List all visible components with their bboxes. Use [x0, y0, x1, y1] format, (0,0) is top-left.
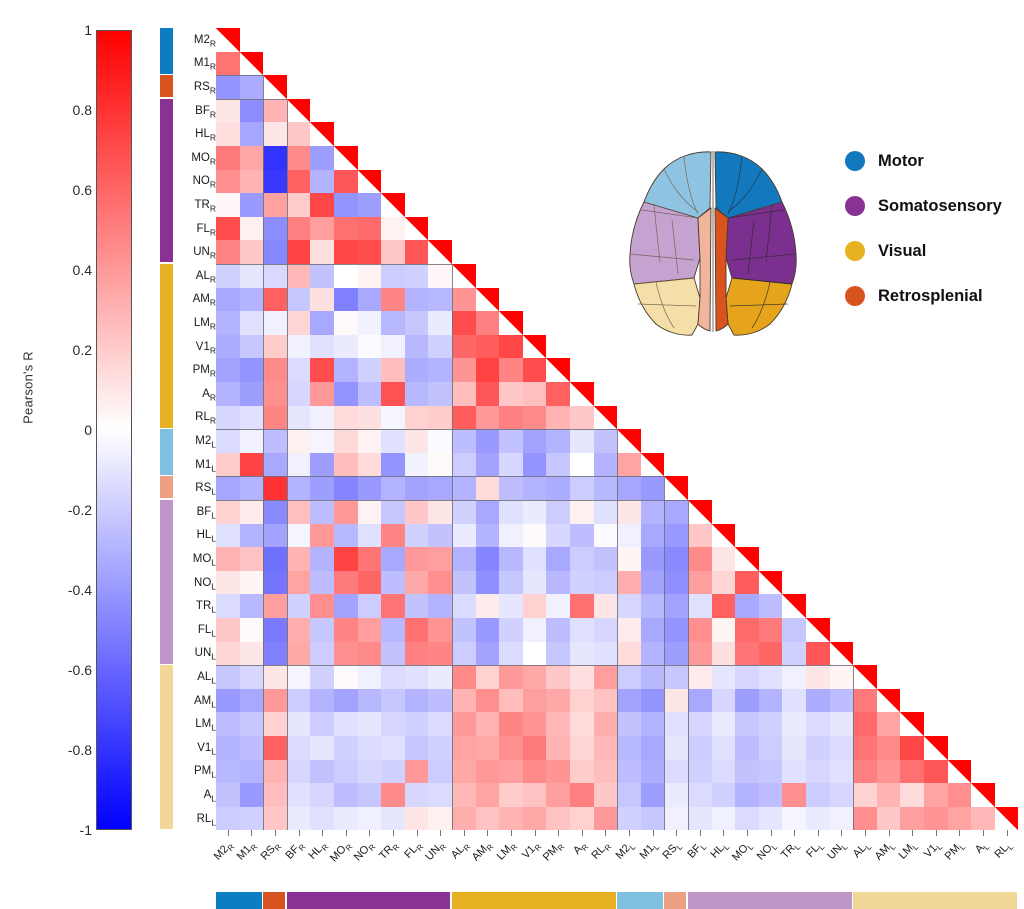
heatmap-cell [476, 406, 500, 430]
heatmap-cell [216, 547, 240, 571]
column-tick-mark [299, 830, 300, 836]
heatmap-cell [428, 618, 452, 642]
heatmap-cell [782, 689, 806, 713]
brain-region-visual-left [634, 278, 700, 335]
heatmap-cell [240, 500, 264, 524]
heatmap-cell [381, 311, 405, 335]
heatmap-cell [287, 429, 311, 453]
heatmap-cell [759, 783, 783, 807]
heatmap-cell [617, 783, 641, 807]
colorbar-group: Pearson's R 10.80.60.40.20-0.2-0.4-0.6-0… [0, 0, 160, 860]
heatmap-cell [782, 760, 806, 784]
heatmap-cell [594, 618, 618, 642]
heatmap-cell [688, 760, 712, 784]
column-group-segment-visual-right [452, 892, 616, 909]
heatmap-cell [358, 736, 382, 760]
heatmap-cell [287, 712, 311, 736]
heatmap-cell [405, 500, 429, 524]
heatmap-cell [405, 264, 429, 288]
column-group-segment-retrosplenial-left [664, 892, 686, 909]
heatmap-cell [334, 807, 358, 831]
heatmap-cell [688, 500, 712, 524]
heatmap-cell [428, 500, 452, 524]
heatmap-cell [594, 453, 618, 477]
heatmap-cell [358, 406, 382, 430]
group-separator-horizontal [216, 500, 688, 501]
heatmap-cell [216, 689, 240, 713]
heatmap-cell [499, 524, 523, 548]
heatmap-cell [664, 618, 688, 642]
heatmap-cell [334, 382, 358, 406]
heatmap-cell [334, 642, 358, 666]
heatmap-cell [546, 571, 570, 595]
heatmap-cell [310, 807, 334, 831]
heatmap-cell [216, 288, 240, 312]
heatmap-cell [476, 335, 500, 359]
heatmap-cell [381, 358, 405, 382]
colorbar-tick-0: 0 [0, 422, 92, 438]
heatmap-cell [334, 453, 358, 477]
heatmap-cell [428, 524, 452, 548]
heatmap-cell [358, 311, 382, 335]
heatmap-cell [594, 500, 618, 524]
heatmap-cell [240, 618, 264, 642]
brain-region-retrosplenial-left [698, 208, 711, 331]
heatmap-cell [712, 571, 736, 595]
heatmap-cell [263, 571, 287, 595]
heatmap-cell [216, 52, 240, 76]
heatmap-cell [853, 712, 877, 736]
heatmap-cell [948, 783, 972, 807]
heatmap-cell [735, 760, 759, 784]
heatmap-cell [428, 453, 452, 477]
heatmap-cell [381, 712, 405, 736]
heatmap-cell [287, 146, 311, 170]
heatmap-cell [688, 547, 712, 571]
heatmap-cell [688, 665, 712, 689]
heatmap-cell [830, 689, 854, 713]
heatmap-cell [499, 594, 523, 618]
heatmap-cell [546, 642, 570, 666]
heatmap-cell [735, 618, 759, 642]
heatmap-cell [358, 760, 382, 784]
heatmap-cell [216, 665, 240, 689]
heatmap-cell [499, 712, 523, 736]
heatmap-cell [358, 594, 382, 618]
heatmap-cell [405, 571, 429, 595]
heatmap-cell [499, 358, 523, 382]
heatmap-cell [287, 453, 311, 477]
heatmap-cell [358, 170, 382, 194]
group-separator-vertical [617, 429, 618, 830]
heatmap-cell [240, 382, 264, 406]
heatmap-cell [570, 689, 594, 713]
heatmap-cell [712, 594, 736, 618]
heatmap-cell [452, 524, 476, 548]
heatmap-cell [476, 712, 500, 736]
legend-item-visual: Visual [845, 238, 926, 264]
heatmap-cell [617, 594, 641, 618]
heatmap-cell [263, 524, 287, 548]
heatmap-cell [452, 358, 476, 382]
heatmap-cell [594, 736, 618, 760]
heatmap-cell [617, 642, 641, 666]
colorbar-tick-neg0p8: -0.8 [0, 742, 92, 758]
correlation-matrix-figure: Pearson's R 10.80.60.40.20-0.2-0.4-0.6-0… [0, 0, 1024, 909]
heatmap-cell [405, 618, 429, 642]
heatmap-cell [523, 760, 547, 784]
heatmap-cell [712, 689, 736, 713]
heatmap-cell [452, 571, 476, 595]
heatmap-cell [641, 500, 665, 524]
heatmap-cell [594, 547, 618, 571]
heatmap-cell [452, 476, 476, 500]
heatmap-cell [381, 288, 405, 312]
heatmap-cell [334, 193, 358, 217]
heatmap-cell [334, 170, 358, 194]
heatmap-cell [263, 594, 287, 618]
heatmap-cell [712, 736, 736, 760]
column-tick-mark [771, 830, 772, 836]
heatmap-cell [594, 665, 618, 689]
heatmap-cell [310, 335, 334, 359]
group-separator-horizontal [216, 429, 617, 430]
heatmap-cell [263, 547, 287, 571]
heatmap-cell [523, 665, 547, 689]
heatmap-cell [263, 217, 287, 241]
column-tick-mark [582, 830, 583, 836]
heatmap-cell [310, 642, 334, 666]
heatmap-cell [759, 712, 783, 736]
heatmap-cell [452, 335, 476, 359]
column-tick-mark [605, 830, 606, 836]
heatmap-cell [287, 311, 311, 335]
heatmap-cell [240, 406, 264, 430]
heatmap-cell [334, 736, 358, 760]
heatmap-cell [381, 335, 405, 359]
heatmap-cell [428, 406, 452, 430]
heatmap-cell [594, 712, 618, 736]
colorbar-tick-labels: 10.80.60.40.20-0.2-0.4-0.6-0.8-1 [0, 24, 92, 836]
heatmap-cell [924, 807, 948, 831]
heatmap-cell [900, 712, 924, 736]
heatmap-cell [334, 358, 358, 382]
column-axis-labels: M2RM1RRSRBFRHLRMORNORTRRFLRUNRALRAMRLMRV… [216, 830, 1018, 890]
heatmap-cell [240, 358, 264, 382]
heatmap-cell [688, 712, 712, 736]
heatmap-cell [523, 358, 547, 382]
heatmap-cell [664, 712, 688, 736]
heatmap-cell [523, 500, 547, 524]
heatmap-cell [570, 618, 594, 642]
heatmap-cell [405, 453, 429, 477]
heatmap-cell [240, 594, 264, 618]
heatmap-cell [240, 122, 264, 146]
heatmap-cell [782, 783, 806, 807]
heatmap-cell [381, 476, 405, 500]
heatmap-cell [358, 712, 382, 736]
heatmap-cell [334, 665, 358, 689]
heatmap-cell [381, 193, 405, 217]
heatmap-cell [263, 736, 287, 760]
heatmap-cell [381, 547, 405, 571]
heatmap-cell [240, 217, 264, 241]
brain-atlas-inset [598, 138, 828, 338]
heatmap-cell [476, 429, 500, 453]
heatmap-cell [641, 689, 665, 713]
heatmap-cell [310, 547, 334, 571]
heatmap-cell [499, 429, 523, 453]
column-tick-mark [676, 830, 677, 836]
heatmap-cell [900, 783, 924, 807]
heatmap-cell [240, 52, 264, 76]
heatmap-cell [759, 665, 783, 689]
heatmap-cell [240, 524, 264, 548]
heatmap-cell [688, 689, 712, 713]
heatmap-cell [216, 75, 240, 99]
heatmap-cell [216, 358, 240, 382]
heatmap-cell [712, 665, 736, 689]
heatmap-cell [664, 642, 688, 666]
heatmap-cell [782, 618, 806, 642]
heatmap-cell [263, 288, 287, 312]
heatmap-cell [287, 524, 311, 548]
heatmap-cell [216, 453, 240, 477]
heatmap-cell [287, 476, 311, 500]
heatmap-cell [735, 594, 759, 618]
heatmap-cell [310, 311, 334, 335]
heatmap-cell [334, 217, 358, 241]
column-tick-mark [369, 830, 370, 836]
heatmap-cell [358, 264, 382, 288]
row-label-rl-l: RLL [197, 805, 216, 833]
heatmap-cell [263, 146, 287, 170]
legend-label: Somatosensory [878, 197, 1002, 216]
heatmap-cell [310, 736, 334, 760]
heatmap-cell [523, 406, 547, 430]
heatmap-cell [546, 500, 570, 524]
heatmap-cell [759, 760, 783, 784]
heatmap-cell [381, 453, 405, 477]
heatmap-cell [287, 288, 311, 312]
heatmap-cell [617, 524, 641, 548]
heatmap-cell [523, 783, 547, 807]
heatmap-cell [664, 500, 688, 524]
heatmap-cell [570, 453, 594, 477]
heatmap-cell [523, 476, 547, 500]
heatmap-cell [263, 264, 287, 288]
heatmap-cell [476, 618, 500, 642]
heatmap-cell [381, 760, 405, 784]
heatmap-cell [334, 288, 358, 312]
heatmap-cell [570, 665, 594, 689]
heatmap-cell [216, 760, 240, 784]
heatmap-cell [428, 783, 452, 807]
heatmap-cell [216, 500, 240, 524]
row-group-segment-somatosensory-right [160, 99, 173, 263]
heatmap-cell [358, 783, 382, 807]
heatmap-cell [499, 618, 523, 642]
heatmap-cell [594, 689, 618, 713]
heatmap-cell [806, 736, 830, 760]
column-tick-mark [912, 830, 913, 836]
heatmap-cell [358, 358, 382, 382]
column-tick-mark [511, 830, 512, 836]
column-tick-mark [251, 830, 252, 836]
heatmap-cell [358, 524, 382, 548]
heatmap-cell [240, 170, 264, 194]
heatmap-cell [499, 406, 523, 430]
heatmap-cell [405, 288, 429, 312]
heatmap-cell [452, 642, 476, 666]
heatmap-cell [240, 429, 264, 453]
group-separator-vertical [452, 264, 453, 830]
heatmap-cell [428, 594, 452, 618]
heatmap-cell [358, 429, 382, 453]
heatmap-cell [688, 807, 712, 831]
heatmap-cell [216, 571, 240, 595]
heatmap-cell [287, 689, 311, 713]
heatmap-cell [405, 689, 429, 713]
heatmap-cell [216, 99, 240, 123]
heatmap-cell [476, 642, 500, 666]
heatmap-cell [664, 547, 688, 571]
heatmap-cell [358, 642, 382, 666]
heatmap-cell [853, 689, 877, 713]
column-tick-mark [275, 830, 276, 836]
heatmap-cell [664, 594, 688, 618]
heatmap-cell [334, 311, 358, 335]
heatmap-cell [499, 311, 523, 335]
heatmap-cell [594, 429, 618, 453]
heatmap-cell [476, 807, 500, 831]
heatmap-cell [405, 217, 429, 241]
colorbar-tick-0p4: 0.4 [0, 262, 92, 278]
heatmap-cell [877, 736, 901, 760]
heatmap-cell [830, 760, 854, 784]
heatmap-cell [948, 760, 972, 784]
heatmap-cell [263, 75, 287, 99]
heatmap-cell [405, 358, 429, 382]
heatmap-cell [334, 146, 358, 170]
heatmap-cell [594, 406, 618, 430]
heatmap-cell [263, 689, 287, 713]
heatmap-cell [476, 665, 500, 689]
heatmap-cell [594, 760, 618, 784]
column-tick-mark [700, 830, 701, 836]
heatmap-cell [523, 382, 547, 406]
heatmap-cell [594, 524, 618, 548]
heatmap-cell [735, 783, 759, 807]
heatmap-cell [499, 783, 523, 807]
heatmap-cell [546, 429, 570, 453]
heatmap-cell [216, 524, 240, 548]
heatmap-cell [830, 665, 854, 689]
heatmap-cell [405, 665, 429, 689]
heatmap-cell [499, 665, 523, 689]
column-tick-mark [322, 830, 323, 836]
heatmap-cell [570, 594, 594, 618]
heatmap-cell [334, 429, 358, 453]
heatmap-cell [310, 382, 334, 406]
row-group-segment-visual-left [160, 665, 173, 829]
heatmap-cell [381, 736, 405, 760]
heatmap-cell [216, 240, 240, 264]
heatmap-cell [782, 665, 806, 689]
heatmap-cell [216, 28, 240, 52]
heatmap-cell [664, 571, 688, 595]
heatmap-cell [263, 170, 287, 194]
heatmap-cell [452, 264, 476, 288]
heatmap-cell [476, 547, 500, 571]
heatmap-cell [263, 122, 287, 146]
heatmap-cell [712, 618, 736, 642]
heatmap-cell [263, 665, 287, 689]
heatmap-cell [287, 335, 311, 359]
heatmap-cell [499, 476, 523, 500]
heatmap-cell [216, 382, 240, 406]
heatmap-cell [546, 547, 570, 571]
group-separator-vertical [263, 75, 264, 830]
heatmap-cell [452, 500, 476, 524]
heatmap-cell [428, 571, 452, 595]
heatmap-cell [240, 476, 264, 500]
heatmap-cell [216, 642, 240, 666]
heatmap-cell [594, 642, 618, 666]
heatmap-cell [452, 288, 476, 312]
heatmap-cell [358, 500, 382, 524]
heatmap-cell [263, 335, 287, 359]
heatmap-cell [358, 193, 382, 217]
heatmap-cell [428, 642, 452, 666]
heatmap-cell [971, 807, 995, 831]
heatmap-cell [358, 618, 382, 642]
dorsal-cortex-diagram [598, 138, 828, 338]
heatmap-cell [405, 335, 429, 359]
heatmap-cell [546, 712, 570, 736]
heatmap-cell [924, 760, 948, 784]
heatmap-cell [405, 642, 429, 666]
heatmap-cell [546, 760, 570, 784]
heatmap-cell [428, 335, 452, 359]
column-group-segment-somatosensory-left [688, 892, 852, 909]
heatmap-cell [806, 783, 830, 807]
heatmap-cell [287, 406, 311, 430]
legend-label: Retrosplenial [878, 287, 983, 306]
heatmap-cell [452, 665, 476, 689]
heatmap-cell [594, 594, 618, 618]
heatmap-cell [664, 760, 688, 784]
heatmap-cell [310, 594, 334, 618]
heatmap-cell [594, 571, 618, 595]
heatmap-cell [381, 689, 405, 713]
heatmap-cell [240, 193, 264, 217]
heatmap-cell [310, 500, 334, 524]
heatmap-cell [310, 783, 334, 807]
heatmap-cell [240, 571, 264, 595]
heatmap-cell [806, 665, 830, 689]
heatmap-cell [570, 547, 594, 571]
heatmap-cell [334, 783, 358, 807]
heatmap-cell [405, 760, 429, 784]
heatmap-cell [381, 240, 405, 264]
heatmap-cell [735, 571, 759, 595]
heatmap-cell [712, 712, 736, 736]
heatmap-cell [287, 358, 311, 382]
column-tick-mark [794, 830, 795, 836]
heatmap-cell [452, 807, 476, 831]
heatmap-cell [735, 642, 759, 666]
